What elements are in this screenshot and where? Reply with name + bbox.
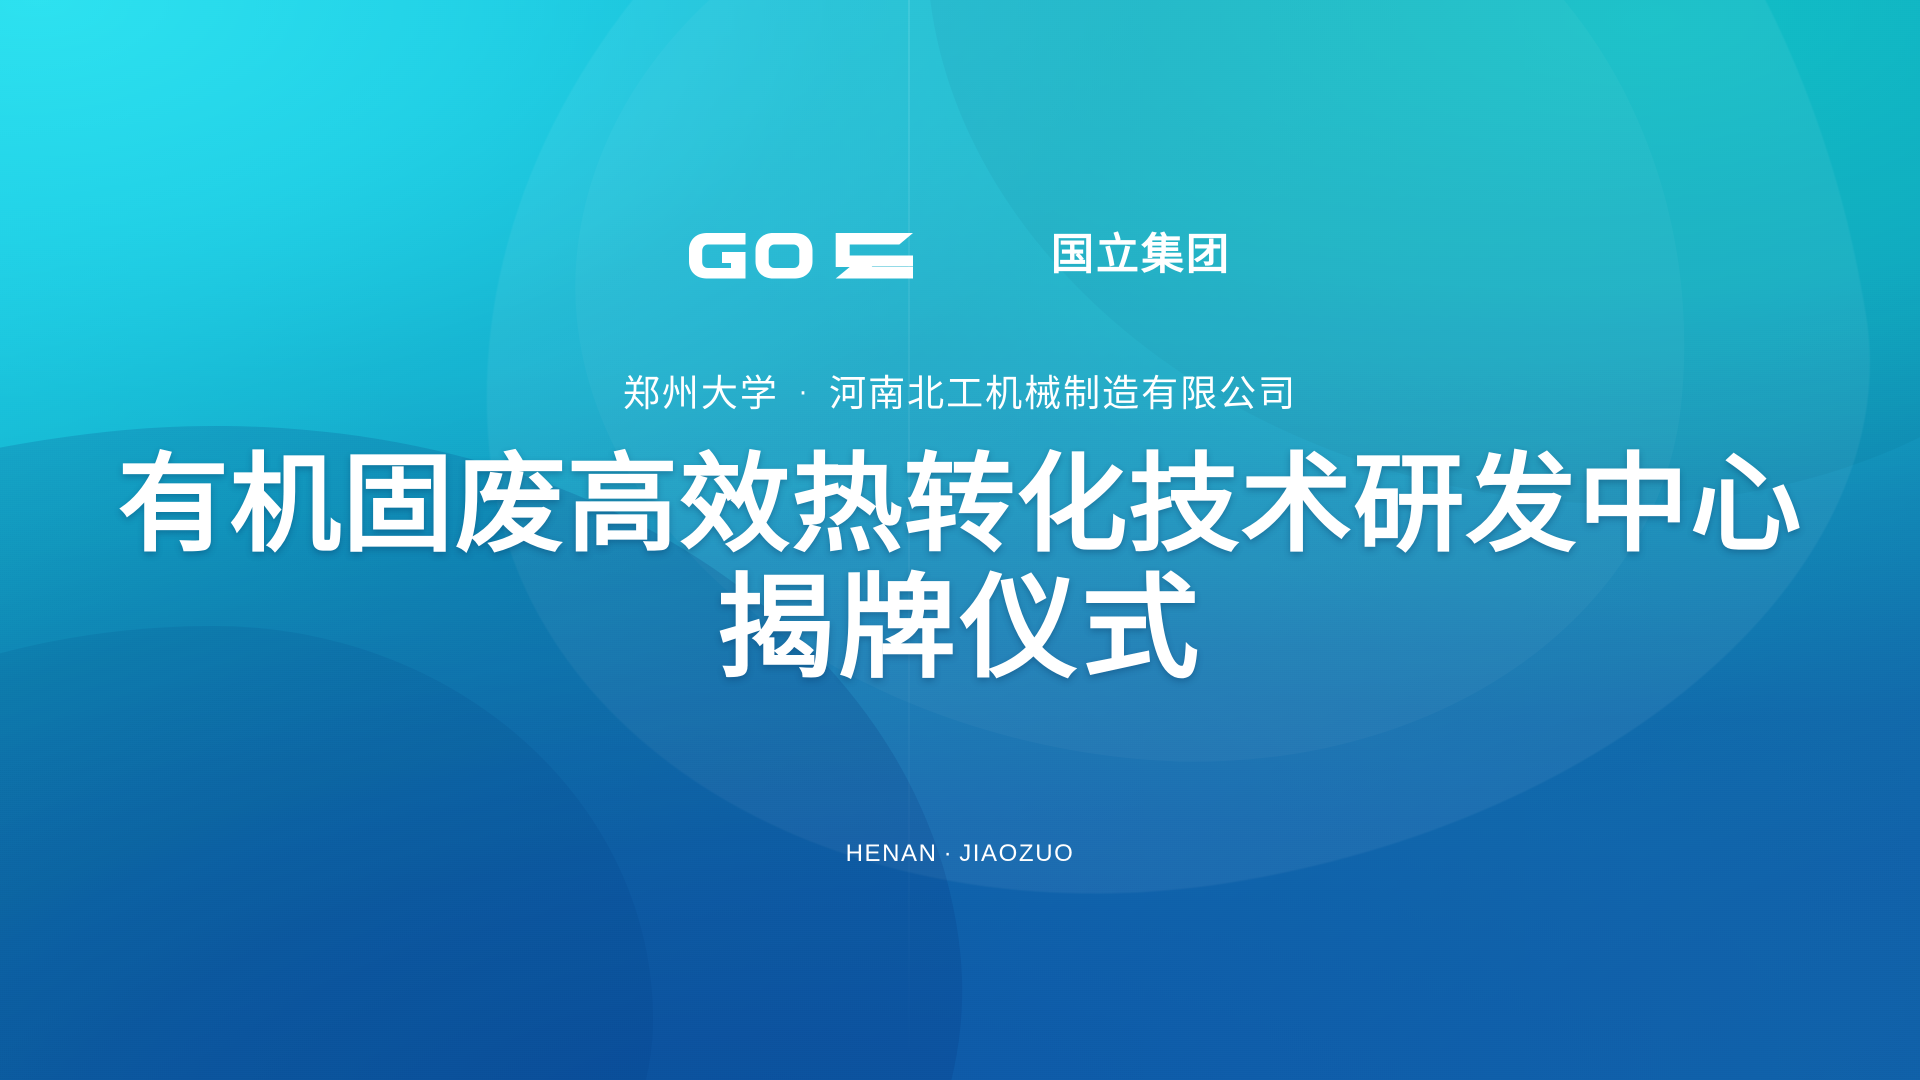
organization-second: 河南北工机械制造有限公司	[829, 372, 1297, 415]
brand-logo-chinese: 国立集团	[1051, 234, 1231, 277]
slide-content: 国立集团 郑州大学·河南北工机械制造有限公司 有机固废高效热转化技术研发中心 揭…	[0, 0, 1920, 1080]
page-title-line-1: 有机固废高效热转化技术研发中心	[0, 450, 1920, 561]
page-title-line-2: 揭牌仪式	[0, 569, 1920, 689]
gole-wordmark-icon	[689, 228, 1029, 284]
location-province: HENAN	[846, 840, 938, 867]
location-separator: ·	[938, 840, 960, 867]
brand-logo: 国立集团	[0, 228, 1920, 284]
location-city: JIAOZUO	[959, 840, 1074, 867]
organization-first: 郑州大学	[623, 372, 779, 415]
organizations-separator: ·	[779, 380, 829, 409]
organizations-line: 郑州大学·河南北工机械制造有限公司	[0, 374, 1920, 415]
location-line: HENAN·JIAOZUO	[0, 840, 1920, 868]
title-slide: 国立集团 郑州大学·河南北工机械制造有限公司 有机固废高效热转化技术研发中心 揭…	[0, 0, 1920, 1080]
page-title: 有机固废高效热转化技术研发中心 揭牌仪式	[0, 450, 1920, 689]
